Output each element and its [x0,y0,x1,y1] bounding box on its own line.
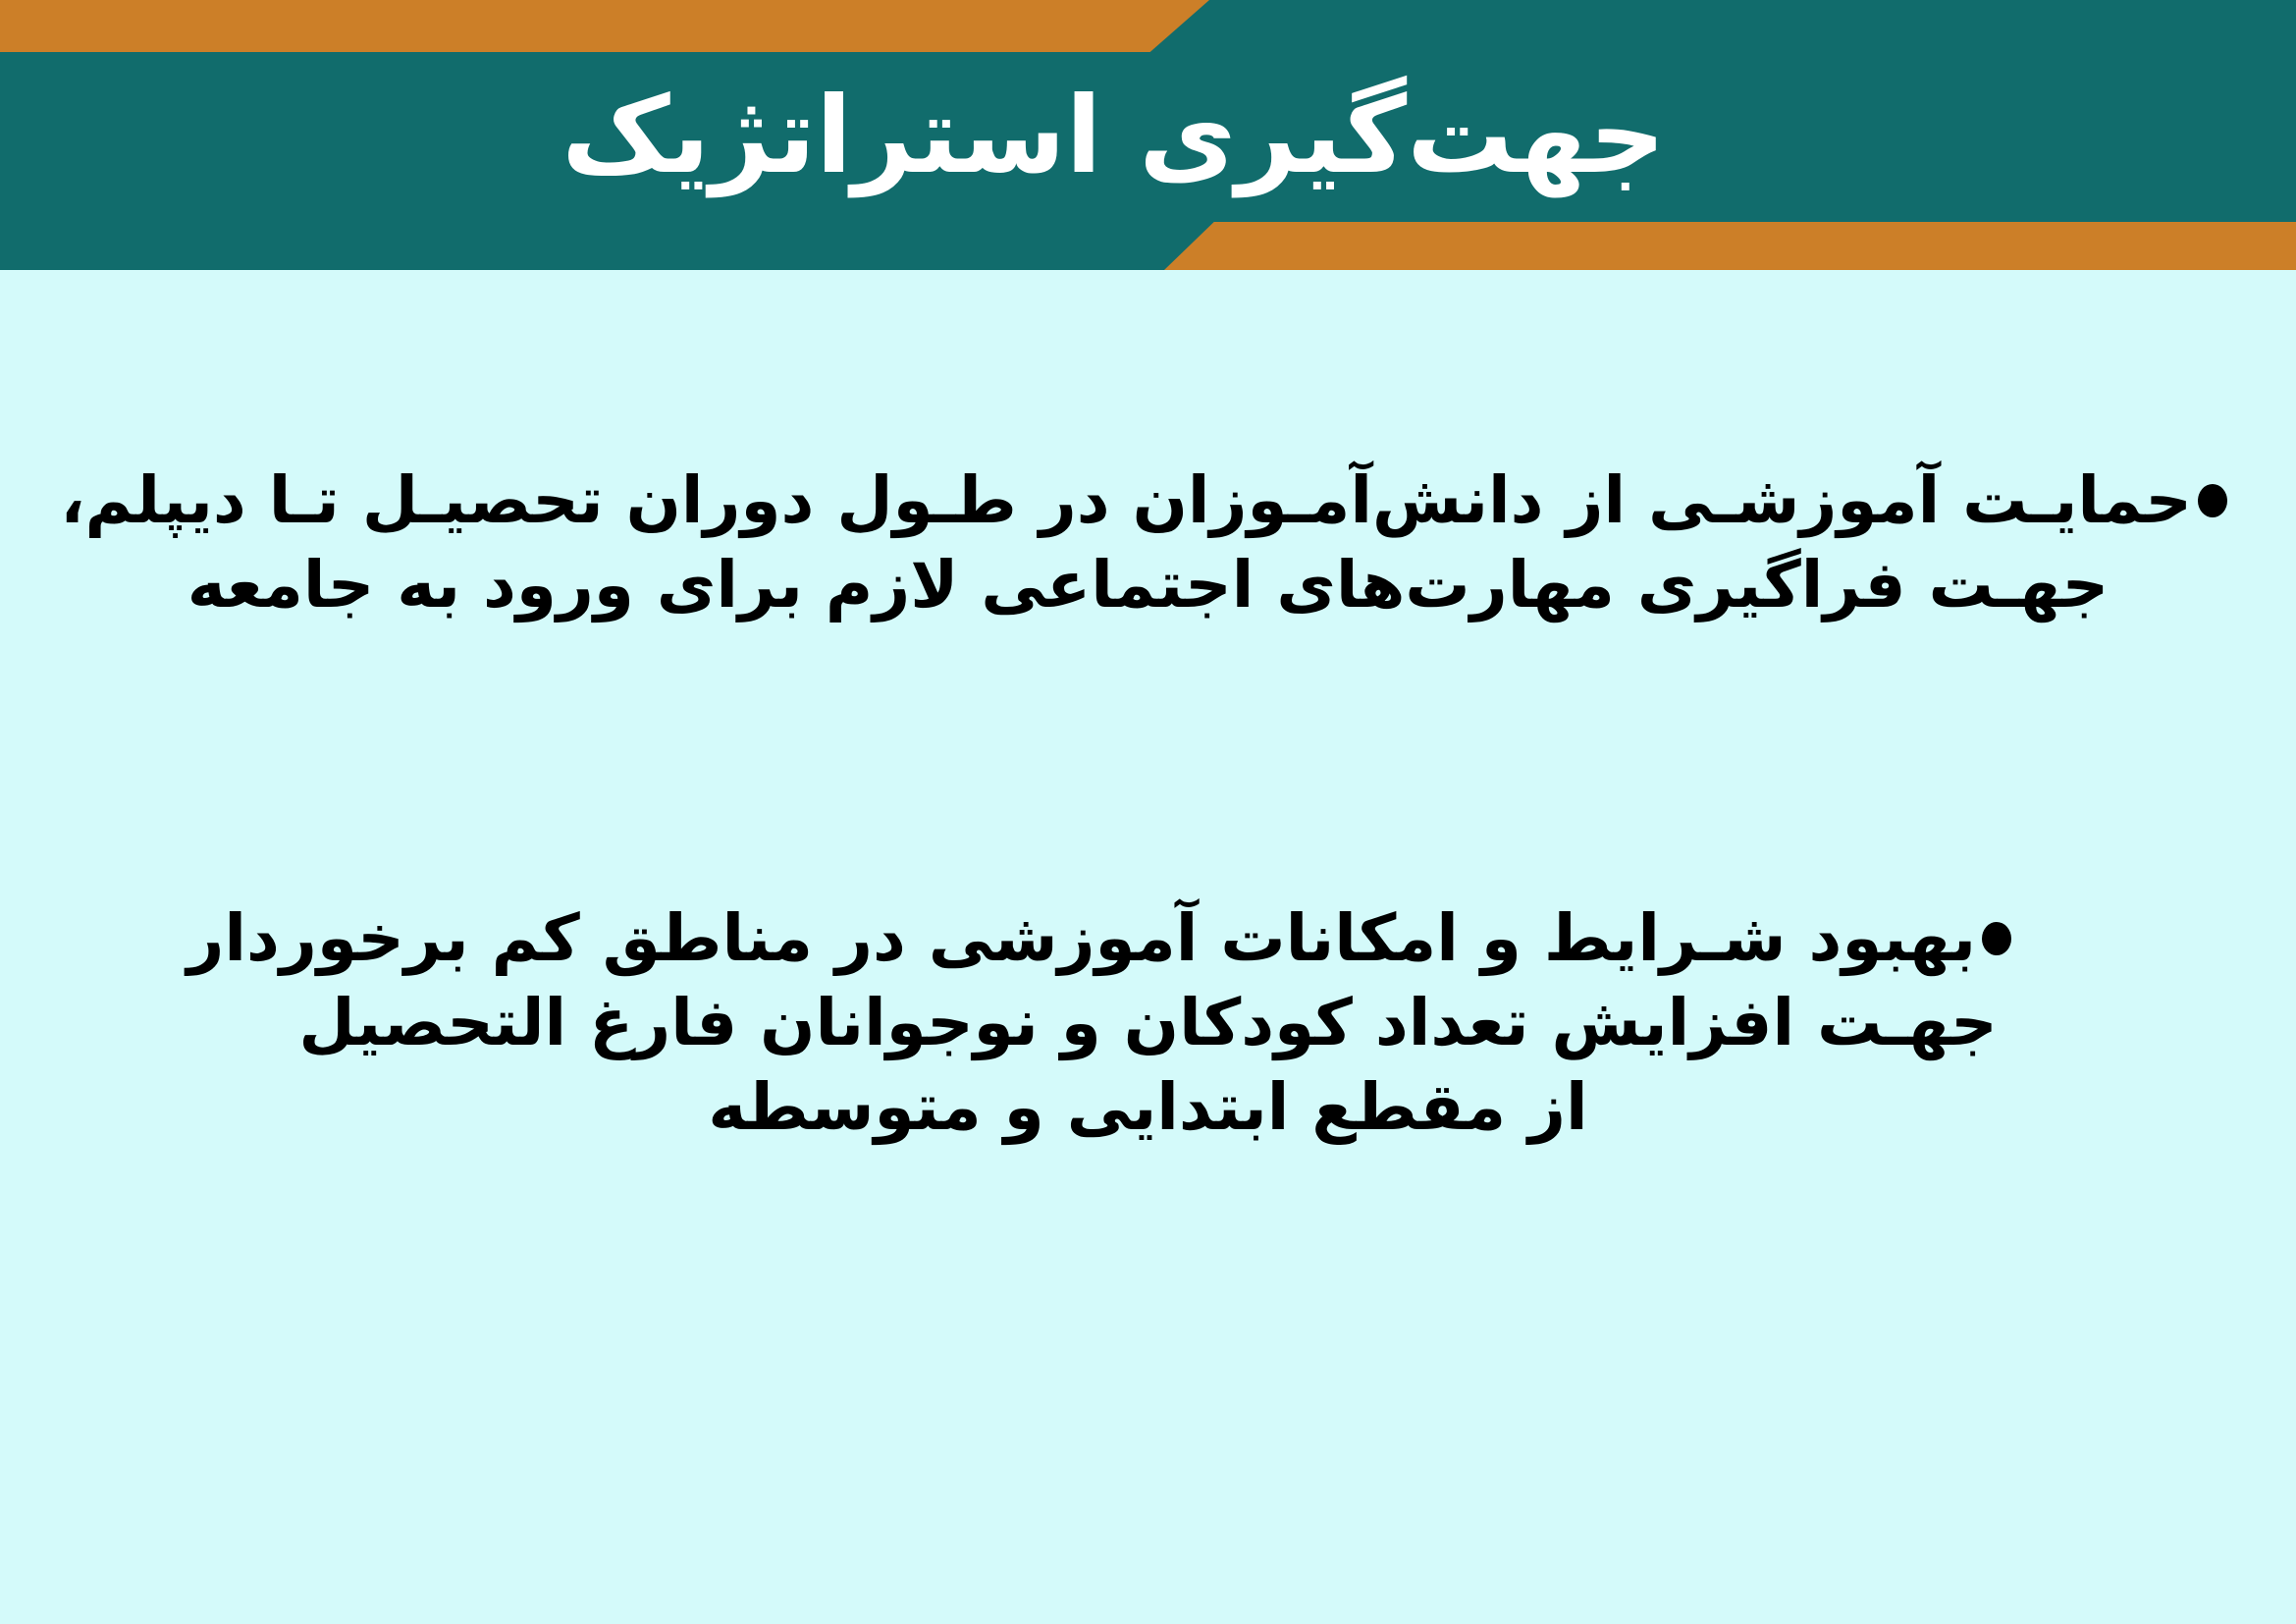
bullet-line: بهبود شـرایط و امکانات آموزشی در مناطق ک… [285,896,2011,981]
filled-circle-bullet-icon [1982,922,2011,955]
bullet-line-text: حمایـت آموزشـی از دانش‌آمـوزان در طـول د… [60,462,2192,538]
bullet-line-text: بهبود شـرایط و امکانات آموزشی در مناطق ک… [187,900,1976,976]
bullet-item: بهبود شـرایط و امکانات آموزشی در مناطق ک… [0,896,2296,1149]
bullet-line: حمایـت آموزشـی از دانش‌آمـوزان در طـول د… [69,459,2227,543]
bullet-line: از مقطع ابتدایی و متوسطه [285,1065,2011,1150]
page-title: جهت‌گیری استراتژیک [0,26,2262,247]
slide-canvas: جهت‌گیری استراتژیک حمایـت آموزشـی از دان… [0,0,2296,1624]
bullet-line-text: جهـت افزایش تعداد کودکان و نوجوانان فارغ… [298,985,1997,1060]
bullet-item: حمایـت آموزشـی از دانش‌آمـوزان در طـول د… [0,459,2296,627]
bullet-line: جهـت افزایش تعداد کودکان و نوجوانان فارغ… [285,981,2011,1065]
slide-body: حمایـت آموزشـی از دانش‌آمـوزان در طـول د… [0,270,2296,1624]
bullet-line: جهـت فراگیری مهارت‌های اجتماعی لازم برای… [69,543,2227,627]
bullet-line-text: جهـت فراگیری مهارت‌های اجتماعی لازم برای… [187,547,2109,623]
filled-circle-bullet-icon [2198,484,2227,517]
bullet-line-text: از مقطع ابتدایی و متوسطه [708,1069,1587,1145]
